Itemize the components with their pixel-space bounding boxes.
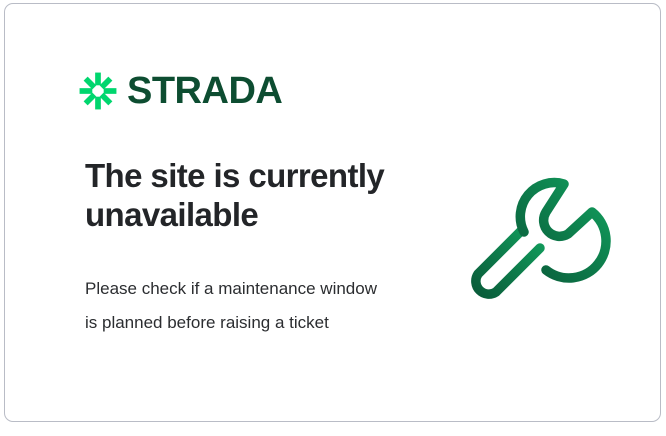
- error-page: STRADA The site is currently unavailable…: [0, 0, 666, 436]
- status-card: STRADA The site is currently unavailable…: [4, 3, 661, 422]
- page-description: Please check if a maintenance window is …: [85, 272, 385, 340]
- page-title: The site is currently unavailable: [85, 157, 415, 235]
- brand-wordmark: STRADA: [127, 72, 282, 110]
- brand-logo: STRADA: [79, 72, 282, 110]
- starburst-asterisk-icon: [79, 72, 117, 110]
